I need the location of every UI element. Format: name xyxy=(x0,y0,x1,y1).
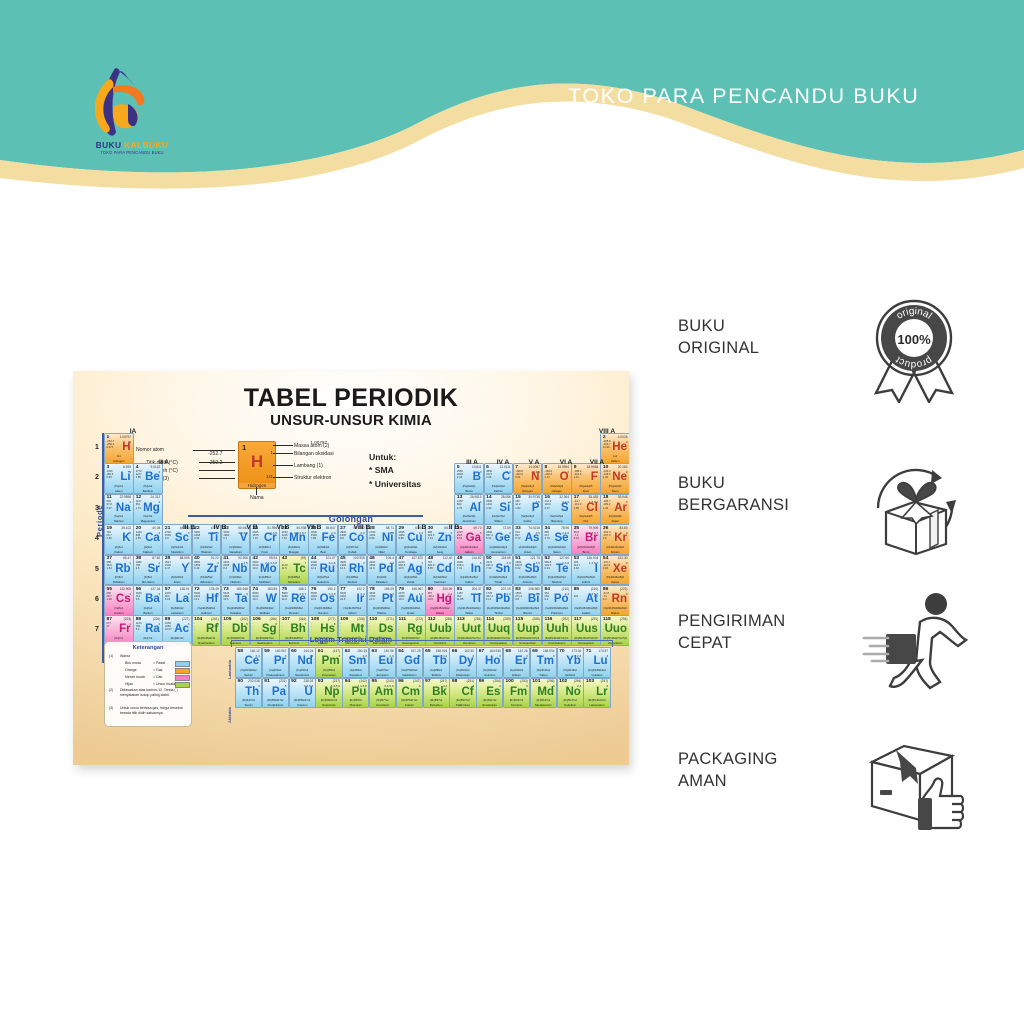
element-props: 9622549.2 xyxy=(545,592,549,602)
element-cell-Pb[interactable]: 82207.192,41725327.411.4Pb[Xe]4f145d106s… xyxy=(484,585,514,616)
element-mass: (262) xyxy=(240,617,247,621)
element-cell-Ce[interactable]: 58140.123,4Ce[Xe]4f15d16s2Serium xyxy=(235,647,262,678)
element-symbol: No xyxy=(565,687,580,699)
element-symbol: Li xyxy=(120,472,130,484)
element-props: -268.9-269.70.126 xyxy=(603,440,611,450)
element-config: [Rn]5f146d17s2 xyxy=(584,699,609,702)
element-name: Skandium xyxy=(163,550,191,554)
element-mass: 74.9216 xyxy=(528,526,540,530)
element-name: Seng xyxy=(426,550,454,554)
element-config: [Rn]5f97s2 xyxy=(424,699,449,702)
element-cell-P[interactable]: 1530.97383,528044.21.82P[Ne]3s23p3Fosfor xyxy=(513,494,543,525)
legend-color-name: Merah muda xyxy=(125,675,145,679)
legend-color-head: Warna xyxy=(120,654,130,658)
key-label-nama: Nama xyxy=(250,495,264,501)
element-config: [Ar]3d104s24p4 xyxy=(543,546,571,549)
element-symbol: V xyxy=(240,533,248,545)
element-props: 268014102.33 xyxy=(486,500,492,510)
element-config: [Xe]4f145d106s26p3 xyxy=(514,607,542,610)
element-config: [He]2s22p2 xyxy=(485,485,513,488)
element-cell-Si[interactable]: 1428.0864268014102.33Si[Ne]3s23p2Silikon xyxy=(484,494,514,525)
legend-title: Keterangan xyxy=(105,645,191,651)
element-props: -195.8-209.90.81 xyxy=(515,470,523,480)
element-config: [Xe]4f106s2 xyxy=(450,669,475,672)
element-number: 92 xyxy=(291,679,296,684)
element-cell-N[interactable]: 714.00673,4,5-195.8-209.90.81N[He]2s22p3… xyxy=(513,463,543,494)
element-props: -246.0-248.61.20 xyxy=(603,470,611,480)
element-props: 273015393.0 xyxy=(165,531,171,541)
element-mass: (288) xyxy=(532,617,539,621)
element-name: Rutenium xyxy=(309,580,337,584)
element-mass: (264) xyxy=(299,617,306,621)
element-name: Berilium xyxy=(134,489,162,493)
element-cell-Lr[interactable]: 103(257)3Lr[Rn]5f146d17s2Lawrensium xyxy=(583,678,610,709)
element-symbol: Pa xyxy=(272,687,286,699)
element-cell-In[interactable]: 49114.8232000156.27.31In[Kr]4d105s25p1In… xyxy=(454,555,484,586)
element-cell-Be[interactable]: 49.01222277012771.85Be[He]2s2Berilium xyxy=(133,463,163,494)
element-config: [Kr]4d105s25p3 xyxy=(514,576,542,579)
element-cell-S[interactable]: 1632.0642,4,6444.6119.02.07S[Ne]3s23p4Be… xyxy=(542,494,572,525)
element-name: Tantalum xyxy=(222,611,250,615)
element-number: 111 xyxy=(399,617,407,622)
element-mass: 22.9898 xyxy=(120,495,132,499)
element-mass: (210) xyxy=(591,587,598,591)
element-number: 61 xyxy=(318,649,323,654)
element-name: Nobelium xyxy=(558,703,583,707)
element-number: 98 xyxy=(452,679,457,684)
element-number: 91 xyxy=(264,679,269,684)
element-config: [Kr]4d105s25p6 xyxy=(601,576,629,579)
element-cell-Al[interactable]: 1326.9815324506602.70Al[Ne]3s23p1Alumini… xyxy=(454,494,484,525)
element-symbol: Bi xyxy=(528,594,540,606)
element-cell-Sb[interactable]: 51121.753,51380630.56.62Sb[Kr]4d105s25p3… xyxy=(513,555,543,586)
element-cell-Rb[interactable]: 3785.47168838.91.53Rb[Kr]5s1Rubidium xyxy=(104,555,134,586)
element-mass: 232.038 xyxy=(248,679,260,683)
element-cell-Lu[interactable]: 71174.973Lu[Xe]4f145d16s2Lutetium xyxy=(583,647,610,678)
element-mass: (231) xyxy=(279,679,286,683)
element-cell-Os[interactable]: 76190.23,4,85500304522.6Os[Xe]4f145d66s2… xyxy=(308,585,338,616)
element-name: Gadolinium xyxy=(397,673,422,677)
element-config: [Ne]3s23p2 xyxy=(485,515,513,518)
element-config: [Rn]5f77s2 xyxy=(370,699,395,702)
element-mass: 190.2 xyxy=(328,587,336,591)
element-cell-Re[interactable]: 75186.24,6,75900318021.0Re[Xe]4f145d56s2… xyxy=(279,585,309,616)
element-mass: (227) xyxy=(182,617,189,621)
element-props: 4530176921.4 xyxy=(369,592,375,602)
element-props: 6852174.79 xyxy=(545,531,550,541)
element-mass: (272) xyxy=(416,617,423,621)
element-cell-Ru[interactable]: 44101.073,4,84900250012.2Ru[Kr]4d75s1Rut… xyxy=(308,555,338,586)
element-symbol: As xyxy=(525,533,540,545)
element-mass: (237) xyxy=(333,679,340,683)
element-symbol: Os xyxy=(320,594,335,606)
element-props: 2210960.810.5 xyxy=(399,561,406,571)
element-props: 2000156.27.31 xyxy=(457,561,464,571)
element-props: -185.7-189.21.40 xyxy=(603,500,611,510)
element-name: Itrium xyxy=(163,580,191,584)
element-mass: 69.72 xyxy=(474,526,482,530)
element-symbol: Rh xyxy=(349,564,364,576)
brand-logo[interactable]: BUKU KALBUKU TOKO PARA PENCANDU BUKU xyxy=(84,66,180,170)
element-cell-W[interactable]: 74183.8565930341019.3W[Xe]4f145d46s2Wolf… xyxy=(250,585,280,616)
element-config: [He]2s2 xyxy=(134,485,162,488)
element-cell-Ne[interactable]: 1020.1830-246.0-248.61.20Ne[He]2s22p6Neo… xyxy=(600,463,629,494)
element-config: [Rn]5f67s2 xyxy=(343,699,368,702)
element-cell-F[interactable]: 918.99841-188.2-219.61.11F[He]2s22p5Fluo… xyxy=(571,463,601,494)
element-config: [Xe]4f126s2 xyxy=(504,669,529,672)
element-name: Samarium xyxy=(343,673,368,677)
element-name: Rubidium xyxy=(105,580,133,584)
element-symbol: Hg xyxy=(436,594,451,606)
element-cell-Bi[interactable]: 83208.9803,51560271.39.8Bi[Xe]4f145d106s… xyxy=(513,585,543,616)
element-symbol: Re xyxy=(291,594,306,606)
element-cell-Md[interactable]: 101(256)3Md[Rn]5f137s2Mendelevium xyxy=(530,678,557,709)
lanthanide-series-label: Lantanida xyxy=(227,660,232,679)
element-name: Fermium xyxy=(504,703,529,707)
element-number: 66 xyxy=(452,649,457,654)
element-mass: 186.2 xyxy=(298,587,306,591)
element-mass: (99) xyxy=(301,556,307,560)
element-mass: (223) xyxy=(124,617,131,621)
element-name: Amerisium xyxy=(370,703,395,707)
element-name: Selen xyxy=(543,550,571,554)
element-name: Galium xyxy=(455,550,483,554)
element-name: Besi xyxy=(309,550,337,554)
element-name: Klor xyxy=(572,519,600,523)
element-name: Kalifornium xyxy=(450,703,475,707)
element-symbol: Na xyxy=(116,503,131,515)
element-cell-As[interactable]: 3374.92163,56138175.72As[Ar]3d104s24p3Ar… xyxy=(513,524,543,555)
element-symbol: Pr xyxy=(274,656,286,668)
element-config: 1s2 xyxy=(601,455,629,458)
element-cell-O[interactable]: 815.99942-183.0-218.41.14O[He]2s22p4Oksi… xyxy=(542,463,572,494)
svg-text:100%: 100% xyxy=(897,332,931,347)
key-label-nomor-atom: Nomor atom xyxy=(136,447,164,453)
element-symbol: Md xyxy=(537,687,554,699)
element-config: [Ar]3d64s2 xyxy=(309,546,337,549)
element-mass: (242) xyxy=(359,679,366,683)
element-cell-La[interactable]: 57138.91334709206.19La[Xe]5d16s2Lantanum xyxy=(162,585,192,616)
periodic-table-poster[interactable]: TABEL PERIODIK UNSUR-UNSUR KIMIA 1 1.007… xyxy=(73,371,629,765)
element-props: 223729.85.91 xyxy=(457,531,463,541)
element-symbol: Cr xyxy=(264,533,277,545)
element-name: Prometium xyxy=(316,673,341,677)
element-mass: (277) xyxy=(328,617,335,621)
element-cell-Am[interactable]: 95(243)3,4,5,6Am[Rn]5f77s2Amerisium xyxy=(369,678,396,709)
element-props: 345019006.1 xyxy=(223,531,229,541)
element-name: Einsteinium xyxy=(477,703,502,707)
element-mass: 32.064 xyxy=(559,495,569,499)
element-number: 115 xyxy=(515,617,523,622)
element-props: 300015367.86 xyxy=(311,531,317,541)
element-cell-Pa[interactable]: 91(231)5Pa[Rn]5f26d17s2Protaktinium xyxy=(262,678,289,709)
element-cell-Nb[interactable]: 4192.9063,5330024688.4Nb[Kr]4d45s1Niobiu… xyxy=(221,555,251,586)
element-mass: (257) xyxy=(601,679,608,683)
element-config: [Kr]4d85s1 xyxy=(339,576,367,579)
element-cell-Fm[interactable]: 100(253)3Fm[Rn]5f127s2Fermium xyxy=(503,678,530,709)
element-cell-Gd[interactable]: 64157.253Gd[Xe]4f75d16s2Gadolinium xyxy=(396,647,423,678)
safe-packaging-icon xyxy=(860,728,968,836)
element-cell-Sr[interactable]: 3887.62213807682.6Sr[Kr]5s2Stronsium xyxy=(133,555,163,586)
element-cell-Cf[interactable]: 98(251)3Cf[Rn]5f107s2Kalifornium xyxy=(449,678,476,709)
element-mass: (147) xyxy=(333,649,340,653)
element-symbol: Es xyxy=(486,687,500,699)
element-mass: (289) xyxy=(503,617,510,621)
element-name: Nikel xyxy=(368,550,396,554)
element-mass: 164.930 xyxy=(489,649,501,653)
element-cell-Nd[interactable]: 60144.243Nd[Xe]4f46s2Neodimium xyxy=(289,647,316,678)
element-config: [Ar]3d104s24p3 xyxy=(514,546,542,549)
original-badge-icon: 100% original product xyxy=(860,295,968,403)
element-mass: 88.905 xyxy=(180,556,190,560)
element-cell-U[interactable]: 92238.033,4,5,6U[Rn]5f36d17s2Uranium xyxy=(289,678,316,709)
element-symbol: La xyxy=(176,594,189,606)
element-cell-Sm[interactable]: 62150.352,3Sm[Xe]4f66s2Samarium xyxy=(342,647,369,678)
element-config: [Rn]5f137s2 xyxy=(531,699,556,702)
element-props: 16407143.5 xyxy=(136,592,142,602)
element-cell-Cm[interactable]: 96(247)3Cm[Rn]5f76d17s2Kurium xyxy=(396,678,423,709)
element-cell-Er[interactable]: 68167.263Er[Xe]4f126s2Erbium xyxy=(503,647,530,678)
element-cell-Mg[interactable]: 1224.312211076511.74Mg[Ne]3s2Magnesium xyxy=(133,494,163,525)
element-cell-Rh[interactable]: 45102.90533900196612.4Rh[Kr]4d85s1Rodium xyxy=(338,555,368,586)
element-cell-Pu[interactable]: 94(242)3,4,5,6Pu[Rn]5f67s2Plutonium xyxy=(342,678,369,709)
element-cell-I[interactable]: 53126.9041,3,5,7183113.74.94I[Kr]4d105s2… xyxy=(571,555,601,586)
element-symbol: Zr xyxy=(207,564,219,576)
element-name: Molibden xyxy=(251,580,279,584)
element-config: [Ar]3d24s2 xyxy=(193,546,221,549)
element-cell-Np[interactable]: 93(237)3,4,5,6Np[Rn]5f46d17s2Neptunium xyxy=(315,678,342,709)
element-name: Antimon xyxy=(514,580,542,584)
element-cell-Es[interactable]: 99(254)3Es[Rn]5f117s2Einsteinium xyxy=(476,678,503,709)
element-name: Praseodimium xyxy=(263,673,288,677)
element-number: 63 xyxy=(372,649,377,654)
element-cell-H[interactable]: 11.007971-252.7-259.20.071H1s1Hidrogen xyxy=(104,433,134,464)
element-symbol: Cu xyxy=(407,533,422,545)
element-name: Tembaga xyxy=(397,550,425,554)
element-cell-Sn[interactable]: 50118.692,42270231.97.30Sn[Kr]4d105s25p2… xyxy=(484,555,514,586)
element-name: Krom xyxy=(251,550,279,554)
element-symbol: He xyxy=(612,442,627,454)
element-config: [Ne]3s23p4 xyxy=(543,515,571,518)
element-props: 58.8-7.23.12 xyxy=(574,531,579,541)
element-mass: 208.980 xyxy=(528,587,540,591)
element-mass: (247) xyxy=(440,679,447,683)
element-symbol: Ga xyxy=(466,533,481,545)
element-cell-Ta[interactable]: 73180.94855425299616.6Ta[Xe]4f145d36s2Ta… xyxy=(221,585,251,616)
element-cell-Pt[interactable]: 78195.092,44530176921.4Pt[Xe]4f145d96s1P… xyxy=(367,585,397,616)
element-mass: (210) xyxy=(562,587,569,591)
element-number: 67 xyxy=(479,649,484,654)
element-symbol: H xyxy=(122,442,130,454)
element-cell-Ba[interactable]: 56137.34216407143.5Ba[Xe]6s2Barium xyxy=(133,585,163,616)
element-mass: 55.847 xyxy=(326,526,336,530)
element-cell-Mo[interactable]: 4295.942,3,4,5,65560261010.2Mo[Kr]4d55s1… xyxy=(250,555,280,586)
key-label-bilangan-oksidasi: Bilangan oksidasi xyxy=(294,451,334,457)
element-config: [Xe]4f15d16s2 xyxy=(236,669,261,672)
element-config: [Rn]5f117s2 xyxy=(477,699,502,702)
element-cell-Hg[interactable]: 80200.591,2357-38.413.6Hg[Xe]4f145d106s2… xyxy=(425,585,455,616)
element-number: 58 xyxy=(238,649,243,654)
element-cell-Pm[interactable]: 61(147)3Pm[Xe]4f56s2Prometium xyxy=(315,647,342,678)
element-cell-Na[interactable]: 1122.9898189297.80.97Na[Ne]3s1Natrium xyxy=(104,494,134,525)
element-cell-Rn[interactable]: 86(222)0-61.8-714.4Rn[Xe]4f145d106s26p6R… xyxy=(600,585,629,616)
element-name: Erbium xyxy=(504,673,529,677)
element-mass: 6.939 xyxy=(123,465,131,469)
element-symbol: Am xyxy=(375,687,394,699)
element-symbol: Sc xyxy=(175,533,189,545)
element-cell-Po[interactable]: 84(210)2,49622549.2Po[Xe]4f145d106s26p4P… xyxy=(542,585,572,616)
element-number: 105 xyxy=(223,617,231,622)
element-config: [Xe]4f145d66s2 xyxy=(309,607,337,610)
logo-wordmark: BUKU KALBUKU xyxy=(84,140,180,150)
element-props: 326016684.51 xyxy=(194,531,200,541)
element-cell-Ca[interactable]: 2040.08214408381.55Ca[Ar]4s2Kalsium xyxy=(133,524,163,555)
element-cell-Zr[interactable]: 4091.224358018526.49Zr[Kr]4d25s2Zirkoniu… xyxy=(192,555,222,586)
element-cell-Se[interactable]: 3478.962,4,66852174.79Se[Ar]3d104s24p4Se… xyxy=(542,524,572,555)
element-props: 5930341019.3 xyxy=(253,592,259,602)
element-props: 5300241022.5 xyxy=(340,592,346,602)
element-mass: 39.948 xyxy=(618,495,628,499)
element-cell-Cd[interactable]: 48112.402767320.98.65Cd[Kr]4d105s2Kadmiu… xyxy=(425,555,455,586)
element-cell-Tm[interactable]: 69168.9343Tm[Xe]4f136s2Tulium xyxy=(530,647,557,678)
element-cell-B[interactable]: 510.8113255020302.34B[He]2s22p1Boron xyxy=(454,463,484,494)
element-mass: 140.907 xyxy=(275,649,287,653)
element-mass: 238.03 xyxy=(304,679,314,683)
element-cell-Te[interactable]: 52127.602,4,6989.8449.56.24Te[Kr]4d105s2… xyxy=(542,555,572,586)
element-symbol: Po xyxy=(554,594,569,606)
element-cell-Eu[interactable]: 63151.962,3Eu[Xe]4f76s2Europium xyxy=(369,647,396,678)
poster-title: TABEL PERIODIK xyxy=(73,384,629,413)
element-config: [Kr]4d105s25p4 xyxy=(543,576,571,579)
element-mass: 72.59 xyxy=(503,526,511,530)
element-mass: 140.12 xyxy=(250,649,260,653)
legend-color-name: Hijau xyxy=(125,682,133,686)
element-cell-Br[interactable]: 3579.9091,3,5,758.8-7.23.12Br[Ar]3d104s2… xyxy=(571,524,601,555)
element-cell-Ge[interactable]: 3272.5942830937.45.32Ge[Ar]3d104s24p2Ger… xyxy=(484,524,514,555)
element-symbol: Ta xyxy=(235,594,248,606)
element-name: Holmium xyxy=(477,673,502,677)
element-props: 1725327.411.4 xyxy=(486,592,493,602)
element-cell-Li[interactable]: 36.93911330180.50.53Li[He]2s1Litium xyxy=(104,463,134,494)
element-props: 145730311.85 xyxy=(457,592,464,602)
element-cell-Tb[interactable]: 65158.9243,4Tb[Xe]4f96s2Terbium xyxy=(423,647,450,678)
element-symbol: Mg xyxy=(143,503,160,515)
element-number: 94 xyxy=(345,679,350,684)
element-mass: 30.9738 xyxy=(528,495,540,499)
element-config: [He]2s22p1 xyxy=(455,485,483,488)
element-cell-Ar[interactable]: 1839.9480-185.7-189.21.40Ar[Ne]3s23p6Arg… xyxy=(600,494,629,525)
element-cell-Au[interactable]: 79196.9671,32970106319.3Au[Xe]4f145d106s… xyxy=(396,585,426,616)
element-name: Fosfor xyxy=(514,519,542,523)
element-mass: 204.37 xyxy=(472,587,482,591)
element-cell-Ho[interactable]: 67164.9303Ho[Xe]4f116s2Holmium xyxy=(476,647,503,678)
element-config: [Ar]3d34s2 xyxy=(222,546,250,549)
element-symbol: Mn xyxy=(289,533,306,545)
element-cell-Pr[interactable]: 59140.9073Pr[Xe]4f36s2Praseodimium xyxy=(262,647,289,678)
gift-warranty-icon xyxy=(860,452,968,560)
element-config: [Ar]3d104s24p1 xyxy=(455,546,483,549)
element-cell-Cs[interactable]: 55132.905169028.71.90Cs[Xe]6s1Cesium xyxy=(104,585,134,616)
element-cell-Dy[interactable]: 66162.503Dy[Xe]4f106s2Disprosium xyxy=(449,647,476,678)
element-props: 989.8449.56.24 xyxy=(545,561,552,571)
element-cell-Pd[interactable]: 46106.42,42200155212.0Pd[Kr]4d10Paladium xyxy=(367,555,397,586)
element-cell-Kr[interactable]: 3683.800-152.3-157.32.6Kr[Ar]3d104s24p6K… xyxy=(600,524,629,555)
element-mass: (261) xyxy=(211,617,218,621)
element-cell-Tc[interactable]: 43(99)7-214011.5Tc[Kr]4d55s2Teknetium xyxy=(279,555,309,586)
feature-label: PENGIRIMANCEPAT xyxy=(678,610,786,655)
element-mass: 121.75 xyxy=(530,556,540,560)
element-cell-At[interactable]: 85(210)1,3,5,7-302-At[Xe]4f145d106s26p5A… xyxy=(571,585,601,616)
feature-pengiriman-cepat: PENGIRIMANCEPAT xyxy=(678,590,968,700)
element-name: Oksigen xyxy=(543,489,571,493)
element-props: 4900250012.2 xyxy=(311,561,317,571)
period-number-1: 1 xyxy=(95,444,99,451)
element-symbol: Ag xyxy=(407,564,422,576)
element-config: [Kr]4d45s1 xyxy=(222,576,250,579)
element-name: Xenon xyxy=(601,580,629,584)
element-config: [Kr]4d105s25p5 xyxy=(572,576,600,579)
element-config: [Xe]4f56s2 xyxy=(316,669,341,672)
element-cell-Ag[interactable]: 47107.87012210960.810.5Ag[Kr]4d105s1Pera… xyxy=(396,555,426,586)
element-mass: (247) xyxy=(413,679,420,683)
element-number: 103 xyxy=(586,679,594,684)
element-cell-Y[interactable]: 3988.9053292715094.47Y[Kr]4d15s2Itrium xyxy=(162,555,192,586)
group-header-IVA: IV A xyxy=(491,459,515,466)
element-cell-C[interactable]: 612.01112,4483037272.26C[He]2s22p2Karbon xyxy=(484,463,514,494)
element-symbol: Dy xyxy=(459,656,474,668)
group-header-VIB: VI B xyxy=(271,524,295,531)
element-props: 357-38.413.6 xyxy=(428,592,434,602)
element-name: Mendelevium xyxy=(531,703,556,707)
element-cell-Ir[interactable]: 77192.23,45300241022.5Ir[Xe]4f145d76s2Ir… xyxy=(338,585,368,616)
element-number: 93 xyxy=(318,679,323,684)
element-number: 106 xyxy=(253,617,261,622)
element-name: Europium xyxy=(370,673,395,677)
element-config: [Xe]4f75d16s2 xyxy=(397,669,422,672)
target-audience: Untuk: * SMA * Universitas xyxy=(369,451,421,491)
element-cell-Th[interactable]: 90232.0384Th[Rn]6d27s2Torium xyxy=(235,678,262,709)
element-mass: 58.71 xyxy=(386,526,394,530)
element-mass: 28.086 xyxy=(501,495,511,499)
element-name: Zirkonium xyxy=(193,580,221,584)
element-cell-Tl[interactable]: 81204.371,3145730311.85Tl[Xe]4f145d106s2… xyxy=(454,585,484,616)
element-cell-K[interactable]: 1939.102176063.70.86K[Ar]4s1Kalium xyxy=(104,524,134,555)
element-name: Cesium xyxy=(105,611,133,615)
element-cell-No[interactable]: 102(254)2,3No[Rn]5f147s2Nobelium xyxy=(557,678,584,709)
element-cell-Yb[interactable]: 70173.042,3Yb[Xe]4f146s2Iterbium xyxy=(557,647,584,678)
element-props: -34.7-101.01.56 xyxy=(574,500,582,510)
element-config: [Kr]4d15s2 xyxy=(163,576,191,579)
element-symbol: F xyxy=(591,472,598,484)
element-symbol: Ru xyxy=(320,564,335,576)
header-banner: BUKU KALBUKU TOKO PARA PENCANDU BUKU TOK… xyxy=(0,0,1024,190)
element-cell-Xe[interactable]: 54131.300-107.1-111.93.06Xe[Kr]4d105s25p… xyxy=(600,555,629,586)
element-config: [Kr]4d105s1 xyxy=(397,576,425,579)
element-cell-Bk[interactable]: 97(247)3,4Bk[Rn]5f97s2Berkelium xyxy=(423,678,450,709)
element-name: Titanium xyxy=(193,550,221,554)
element-props: 67727- xyxy=(107,622,111,632)
element-cell-Cl[interactable]: 1735.4531,3,5,7-34.7-101.01.56Cl[Ne]3s23… xyxy=(571,494,601,525)
element-cell-Hf[interactable]: 72178.4945400222213.1Hf[Xe]4f145d26s2Haf… xyxy=(192,585,222,616)
element-symbol: Br xyxy=(585,533,598,545)
element-mass: 137.34 xyxy=(151,587,161,591)
element-config: [Xe]4f145d76s2 xyxy=(339,607,367,610)
element-props: -188.2-219.61.11 xyxy=(574,470,582,480)
element-number: 99 xyxy=(479,679,484,684)
element-mass: (243) xyxy=(386,679,393,683)
key-electron-config: 1s1 xyxy=(266,474,273,479)
element-config: [Xe]4f145d16s2 xyxy=(584,669,609,672)
